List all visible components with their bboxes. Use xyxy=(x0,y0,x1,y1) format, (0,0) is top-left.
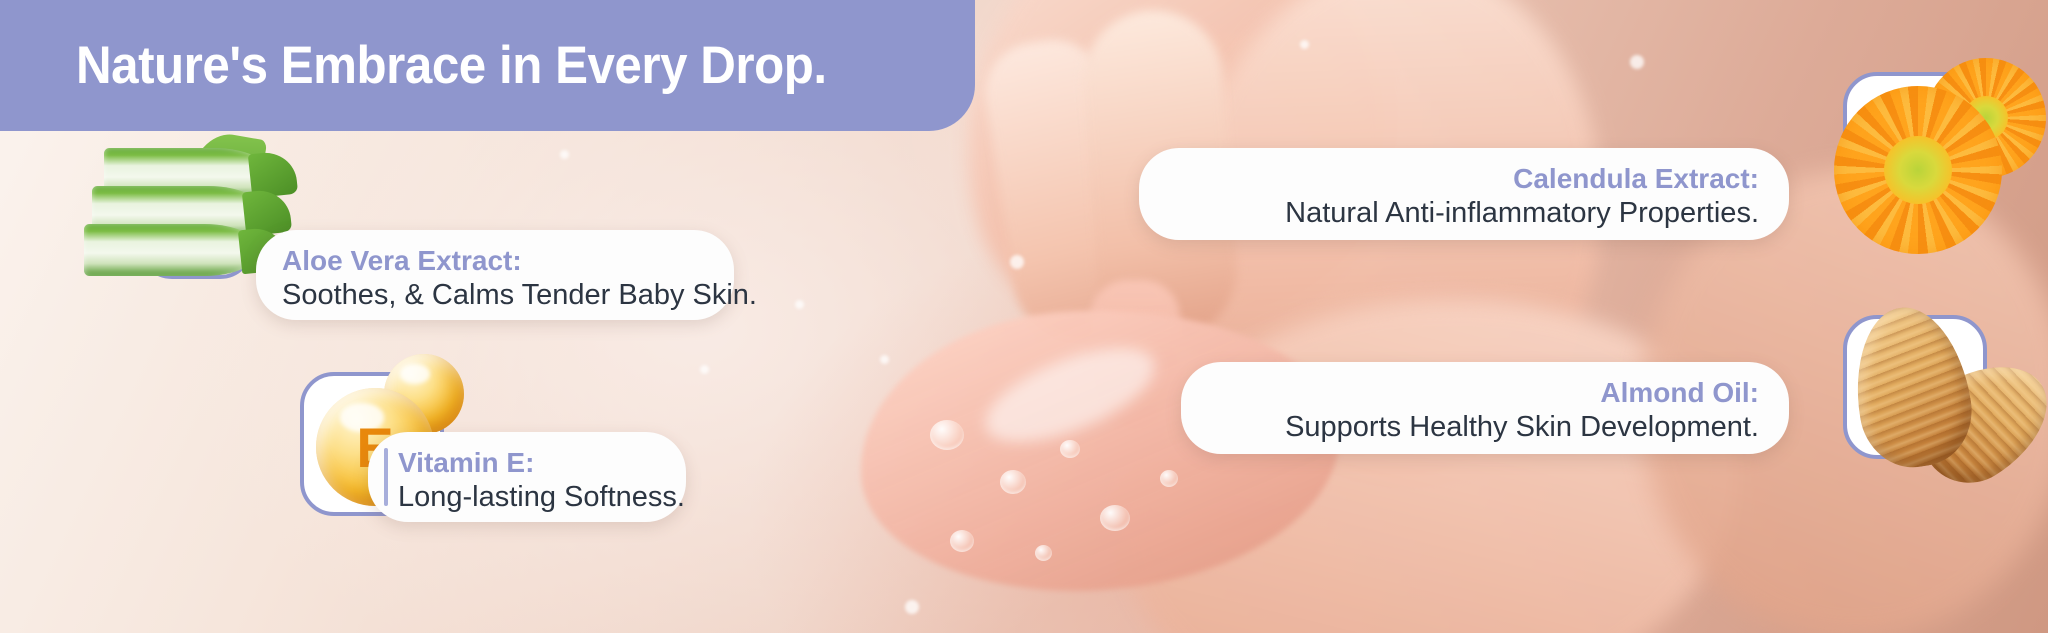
water-droplet xyxy=(930,420,964,450)
aloe-slice xyxy=(84,224,260,276)
water-droplet xyxy=(1160,470,1178,487)
ingredient-card-vitamin-e[interactable]: Vitamin E: Long-lasting Softness. xyxy=(368,432,686,522)
ingredient-card-calendula[interactable]: Calendula Extract: Natural Anti-inflamma… xyxy=(1139,148,1789,240)
ingredient-benefits-banner: Nature's Embrace in Every Drop. Aloe Ver… xyxy=(0,0,2048,633)
card-description: Soothes, & Calms Tender Baby Skin. xyxy=(282,278,704,313)
card-description: Supports Healthy Skin Development. xyxy=(1211,410,1759,445)
almond-nuts-icon xyxy=(1846,305,2036,475)
bokeh-particle xyxy=(880,355,889,364)
water-droplet xyxy=(1060,440,1080,458)
bokeh-particle xyxy=(1630,55,1644,69)
bokeh-particle xyxy=(700,365,709,374)
card-title: Calendula Extract: xyxy=(1169,162,1759,196)
ingredient-card-aloe-vera[interactable]: Aloe Vera Extract: Soothes, & Calms Tend… xyxy=(256,230,734,320)
bokeh-particle xyxy=(560,150,569,159)
card-title: Vitamin E: xyxy=(398,446,656,480)
bokeh-particle xyxy=(795,300,804,309)
card-title: Aloe Vera Extract: xyxy=(282,244,704,278)
card-description: Long-lasting Softness. xyxy=(398,480,656,515)
card-description: Natural Anti-inflammatory Properties. xyxy=(1169,196,1759,231)
calendula-flower-icon xyxy=(1828,52,2048,238)
bokeh-particle xyxy=(1010,255,1024,269)
water-droplet xyxy=(1035,545,1052,561)
page-title: Nature's Embrace in Every Drop. xyxy=(76,35,827,96)
capsule-highlight xyxy=(400,364,430,383)
water-droplet xyxy=(1000,470,1026,494)
card-accent-divider xyxy=(384,448,388,506)
bokeh-particle xyxy=(905,600,919,614)
card-title: Almond Oil: xyxy=(1211,376,1759,410)
water-droplet xyxy=(1100,505,1130,531)
water-droplet xyxy=(950,530,974,552)
calendula-flower-front xyxy=(1834,86,2002,254)
ingredient-card-almond-oil[interactable]: Almond Oil: Supports Healthy Skin Develo… xyxy=(1181,362,1789,454)
bokeh-particle xyxy=(1300,40,1309,49)
flower-center xyxy=(1884,136,1952,204)
title-ribbon: Nature's Embrace in Every Drop. xyxy=(0,0,975,131)
